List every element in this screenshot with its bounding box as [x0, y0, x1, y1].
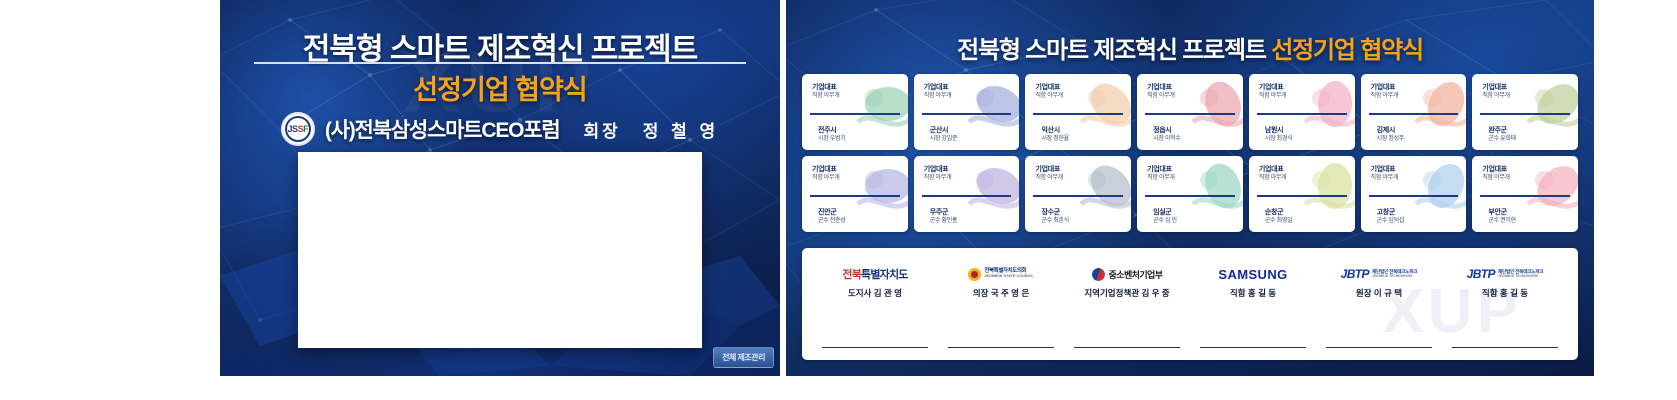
- card-city-official: 군수 황인홍: [930, 218, 957, 225]
- logo-row: 전북특별자치도도지사 김 관 영전북특별자치도의회JEONBUK STATE C…: [812, 266, 1568, 299]
- card-city-name: 무주군: [930, 209, 957, 217]
- card-company-role: 직함 아무개: [1147, 175, 1174, 182]
- right-backdrop-panel: 전북형 스마트 제조혁신 프로젝트 선정기업 협약식 기업대표직함 아무개전주시…: [786, 0, 1594, 376]
- city-emblem-icon: [1522, 78, 1578, 144]
- left-backdrop-panel: XUP 전북형 스마트 제조혁신 프로젝트 선정기업 협약식 JSSF (사)전…: [220, 0, 780, 376]
- signature-line-cell: [1316, 347, 1442, 349]
- sponsor-logo-cell: 중소벤처기업부지역기업정책관 김 우 중: [1064, 266, 1190, 299]
- card-company-label: 기업대표: [1147, 84, 1174, 92]
- signatory-name: 원장 이 규 택: [1356, 287, 1402, 299]
- municipality-card-grid: 기업대표직함 아무개전주시시장 우범기기업대표직함 아무개군산시시장 강임준기업…: [802, 74, 1578, 238]
- card-company-block: 기업대표직함 아무개: [924, 84, 951, 100]
- card-company-block: 기업대표직함 아무개: [1259, 84, 1286, 100]
- card-company-label: 기업대표: [1371, 84, 1398, 92]
- signature-line-cell: [1442, 347, 1568, 349]
- card-divider: [1480, 113, 1570, 115]
- organization-name: (사)전북삼성스마트CEO포럼: [325, 114, 560, 144]
- sponsor-logo-cell: 전북특별자치도도지사 김 관 영: [812, 266, 938, 299]
- left-panel-subtitle: 선정기업 협약식: [220, 68, 780, 107]
- card-city-official: 군수 전춘성: [818, 218, 845, 225]
- municipality-card[interactable]: 기업대표직함 아무개군산시시장 강임준: [914, 74, 1020, 150]
- card-company-role: 직함 아무개: [1371, 175, 1398, 182]
- city-emblem-icon: [1410, 78, 1466, 144]
- card-divider: [1369, 113, 1459, 115]
- jbtp-logo-icon: JBTP재단법인 전북테크노파크JEONBUK TECHNOPARK: [1341, 267, 1418, 281]
- card-city-name: 군산시: [930, 127, 957, 135]
- card-city-block: 진안군군수 전춘성: [818, 209, 845, 225]
- card-company-block: 기업대표직함 아무개: [812, 166, 839, 182]
- signature-line[interactable]: [1074, 347, 1180, 349]
- card-company-role: 직함 아무개: [1147, 93, 1174, 100]
- card-company-role: 직함 아무개: [812, 175, 839, 182]
- sponsor-logo-cell: 전북특별자치도의회JEONBUK STATE COUNCIL의장 국 주 영 은: [938, 266, 1064, 299]
- card-company-block: 기업대표직함 아무개: [1482, 166, 1509, 182]
- card-company-block: 기업대표직함 아무개: [1259, 166, 1286, 182]
- city-emblem-icon: [852, 78, 908, 144]
- city-emblem-icon: [852, 160, 908, 226]
- municipality-card[interactable]: 기업대표직함 아무개완주군군수 유희태: [1472, 74, 1578, 150]
- municipality-card[interactable]: 기업대표직함 아무개정읍시시장 이학수: [1137, 74, 1243, 150]
- screenshot-stage: XUP 전북형 스마트 제조혁신 프로젝트 선정기업 협약식 JSSF (사)전…: [0, 0, 1677, 400]
- card-city-name: 고창군: [1377, 209, 1404, 217]
- card-city-official: 시장 강임준: [930, 136, 957, 143]
- card-divider: [922, 195, 1012, 197]
- card-city-block: 고창군군수 심덕섭: [1377, 209, 1404, 225]
- card-city-block: 김제시시장 정성주: [1377, 127, 1404, 143]
- card-city-block: 완주군군수 유희태: [1488, 127, 1515, 143]
- left-white-signing-board: [298, 152, 702, 348]
- card-city-official: 군수 유희태: [1488, 136, 1515, 143]
- jeonbuk-council-logo-icon: 전북특별자치도의회JEONBUK STATE COUNCIL: [968, 268, 1033, 281]
- sponsor-logo-board: XUP 전북특별자치도도지사 김 관 영전북특별자치도의회JEONBUK STA…: [802, 248, 1578, 360]
- card-company-label: 기업대표: [1371, 166, 1398, 174]
- city-emblem-icon: [963, 160, 1019, 226]
- card-divider: [1369, 195, 1459, 197]
- card-company-label: 기업대표: [1035, 166, 1062, 174]
- card-company-role: 직함 아무개: [1482, 175, 1509, 182]
- card-city-official: 군수 최훈식: [1041, 218, 1068, 225]
- card-company-role: 직함 아무개: [1371, 93, 1398, 100]
- card-company-block: 기업대표직함 아무개: [1147, 84, 1174, 100]
- municipality-card[interactable]: 기업대표직함 아무개익산시시장 정헌율: [1025, 74, 1131, 150]
- city-emblem-icon: [1522, 160, 1578, 226]
- card-company-label: 기업대표: [924, 166, 951, 174]
- sponsor-logo-cell: JBTP재단법인 전북테크노파크JEONBUK TECHNOPARK직함 홍 길…: [1442, 266, 1568, 299]
- card-city-block: 남원시시장 최경식: [1265, 127, 1292, 143]
- card-company-label: 기업대표: [1259, 166, 1286, 174]
- municipality-card[interactable]: 기업대표직함 아무개남원시시장 최경식: [1249, 74, 1355, 150]
- card-divider: [1033, 195, 1123, 197]
- card-row-2: 기업대표직함 아무개진안군군수 전춘성기업대표직함 아무개무주군군수 황인홍기업…: [802, 156, 1578, 232]
- card-city-name: 진안군: [818, 209, 845, 217]
- jssf-seal-icon: JSSF: [281, 112, 315, 146]
- signatory-name: 의장 국 주 영 은: [973, 287, 1029, 299]
- card-city-name: 순창군: [1265, 209, 1292, 217]
- card-city-official: 군수 권익현: [1488, 218, 1515, 225]
- card-company-label: 기업대표: [1035, 84, 1062, 92]
- card-company-role: 직함 아무개: [924, 93, 951, 100]
- signatory-name: 지역기업정책관 김 우 중: [1084, 287, 1169, 299]
- right-panel-title: 전북형 스마트 제조혁신 프로젝트 선정기업 협약식: [786, 30, 1594, 65]
- card-city-name: 김제시: [1377, 127, 1404, 135]
- card-city-name: 정읍시: [1153, 127, 1180, 135]
- municipality-card[interactable]: 기업대표직함 아무개고창군군수 심덕섭: [1361, 156, 1467, 232]
- card-city-block: 부안군군수 권익현: [1488, 209, 1515, 225]
- signature-line-cell: [1064, 347, 1190, 349]
- left-corner-badge: 전체 제조관리: [713, 347, 774, 368]
- signature-line[interactable]: [948, 347, 1054, 349]
- signature-line[interactable]: [1326, 347, 1432, 349]
- card-company-label: 기업대표: [1482, 84, 1509, 92]
- sponsor-logo-cell: SAMSUNG직함 홍 길 동: [1190, 266, 1316, 299]
- signature-line-cell: [1190, 347, 1316, 349]
- municipality-card[interactable]: 기업대표직함 아무개무주군군수 황인홍: [914, 156, 1020, 232]
- city-emblem-icon: [1075, 160, 1131, 226]
- jeonbuk-state-logo-icon: 전북특별자치도: [842, 266, 907, 282]
- signatory-name: 도지사 김 관 영: [848, 287, 902, 299]
- card-company-block: 기업대표직함 아무개: [1371, 166, 1398, 182]
- card-divider: [1257, 195, 1347, 197]
- municipality-card[interactable]: 기업대표직함 아무개순창군군수 최영일: [1249, 156, 1355, 232]
- municipality-card[interactable]: 기업대표직함 아무개전주시시장 우범기: [802, 74, 908, 150]
- card-city-name: 부안군: [1488, 209, 1515, 217]
- card-city-name: 임실군: [1153, 209, 1177, 217]
- city-emblem-icon: [1299, 160, 1355, 226]
- city-emblem-icon: [1075, 78, 1131, 144]
- card-company-block: 기업대표직함 아무개: [1035, 84, 1062, 100]
- right-title-highlight: 선정기업 협약식: [1271, 37, 1423, 64]
- card-company-label: 기업대표: [1147, 166, 1174, 174]
- sponsor-logo-cell: JBTP재단법인 전북테크노파크JEONBUK TECHNOPARK원장 이 규…: [1316, 266, 1442, 299]
- card-company-role: 직함 아무개: [1035, 175, 1062, 182]
- samsung-logo-icon: SAMSUNG: [1218, 267, 1287, 282]
- card-company-role: 직함 아무개: [1259, 175, 1286, 182]
- card-city-block: 군산시시장 강임준: [930, 127, 957, 143]
- organization-role: 회장: [584, 117, 621, 142]
- organization-person: 정 철 영: [643, 117, 719, 142]
- card-city-block: 장수군군수 최훈식: [1041, 209, 1068, 225]
- municipality-card[interactable]: 기업대표직함 아무개진안군군수 전춘성: [802, 156, 908, 232]
- card-company-label: 기업대표: [1482, 166, 1509, 174]
- card-city-block: 순창군군수 최영일: [1265, 209, 1292, 225]
- card-company-label: 기업대표: [812, 84, 839, 92]
- signature-line[interactable]: [822, 347, 928, 349]
- card-city-official: 군수 최영일: [1265, 218, 1292, 225]
- card-city-official: 군수 심 민: [1153, 218, 1177, 225]
- card-company-block: 기업대표직함 아무개: [812, 84, 839, 100]
- signature-line-cell: [938, 347, 1064, 349]
- signatory-name: 직함 홍 길 동: [1230, 287, 1276, 299]
- card-row-1: 기업대표직함 아무개전주시시장 우범기기업대표직함 아무개군산시시장 강임준기업…: [802, 74, 1578, 150]
- city-emblem-icon: [1187, 160, 1243, 226]
- card-divider: [1257, 113, 1347, 115]
- signature-line[interactable]: [1200, 347, 1306, 349]
- card-company-label: 기업대표: [924, 84, 951, 92]
- card-divider: [922, 113, 1012, 115]
- card-divider: [1033, 113, 1123, 115]
- city-emblem-icon: [1187, 78, 1243, 144]
- card-divider: [810, 195, 900, 197]
- card-city-name: 장수군: [1041, 209, 1068, 217]
- card-city-name: 전주시: [818, 127, 845, 135]
- municipality-card[interactable]: 기업대표직함 아무개김제시시장 정성주: [1361, 74, 1467, 150]
- left-title-divider: [254, 62, 746, 64]
- signature-line-cell: [812, 347, 938, 349]
- card-city-name: 완주군: [1488, 127, 1515, 135]
- card-city-block: 익산시시장 정헌율: [1041, 127, 1068, 143]
- card-company-role: 직함 아무개: [1259, 93, 1286, 100]
- city-emblem-icon: [963, 78, 1019, 144]
- card-city-name: 익산시: [1041, 127, 1068, 135]
- card-company-role: 직함 아무개: [1482, 93, 1509, 100]
- card-company-role: 직함 아무개: [924, 175, 951, 182]
- jbtp-logo-icon: JBTP재단법인 전북테크노파크JEONBUK TECHNOPARK: [1467, 267, 1544, 281]
- card-company-role: 직함 아무개: [1035, 93, 1062, 100]
- card-city-official: 시장 이학수: [1153, 136, 1180, 143]
- card-city-official: 시장 정성주: [1377, 136, 1404, 143]
- card-divider: [1145, 195, 1235, 197]
- card-city-block: 전주시시장 우범기: [818, 127, 845, 143]
- card-divider: [1145, 113, 1235, 115]
- card-divider: [810, 113, 900, 115]
- card-divider: [1480, 195, 1570, 197]
- mss-taegeuk-logo-icon: 중소벤처기업부: [1092, 268, 1163, 281]
- card-city-official: 군수 심덕섭: [1377, 218, 1404, 225]
- city-emblem-icon: [1410, 160, 1466, 226]
- right-title-main: 전북형 스마트 제조혁신 프로젝트: [957, 37, 1266, 64]
- municipality-card[interactable]: 기업대표직함 아무개임실군군수 심 민: [1137, 156, 1243, 232]
- card-city-official: 시장 최경식: [1265, 136, 1292, 143]
- card-city-official: 시장 우범기: [818, 136, 845, 143]
- card-city-name: 남원시: [1265, 127, 1292, 135]
- signature-lines: [812, 347, 1568, 349]
- card-company-block: 기업대표직함 아무개: [1482, 84, 1509, 100]
- card-company-block: 기업대표직함 아무개: [1035, 166, 1062, 182]
- card-city-block: 무주군군수 황인홍: [930, 209, 957, 225]
- card-company-block: 기업대표직함 아무개: [1371, 84, 1398, 100]
- card-city-block: 정읍시시장 이학수: [1153, 127, 1180, 143]
- signature-line[interactable]: [1452, 347, 1558, 349]
- city-emblem-icon: [1299, 78, 1355, 144]
- municipality-card[interactable]: 기업대표직함 아무개장수군군수 최훈식: [1025, 156, 1131, 232]
- signatory-name: 직함 홍 길 동: [1482, 287, 1528, 299]
- card-company-role: 직함 아무개: [812, 93, 839, 100]
- card-company-label: 기업대표: [812, 166, 839, 174]
- card-company-block: 기업대표직함 아무개: [924, 166, 951, 182]
- card-city-official: 시장 정헌율: [1041, 136, 1068, 143]
- card-company-label: 기업대표: [1259, 84, 1286, 92]
- municipality-card[interactable]: 기업대표직함 아무개부안군군수 권익현: [1472, 156, 1578, 232]
- card-company-block: 기업대표직함 아무개: [1147, 166, 1174, 182]
- card-city-block: 임실군군수 심 민: [1153, 209, 1177, 225]
- left-organization-row: JSSF (사)전북삼성스마트CEO포럼 회장 정 철 영: [220, 112, 780, 146]
